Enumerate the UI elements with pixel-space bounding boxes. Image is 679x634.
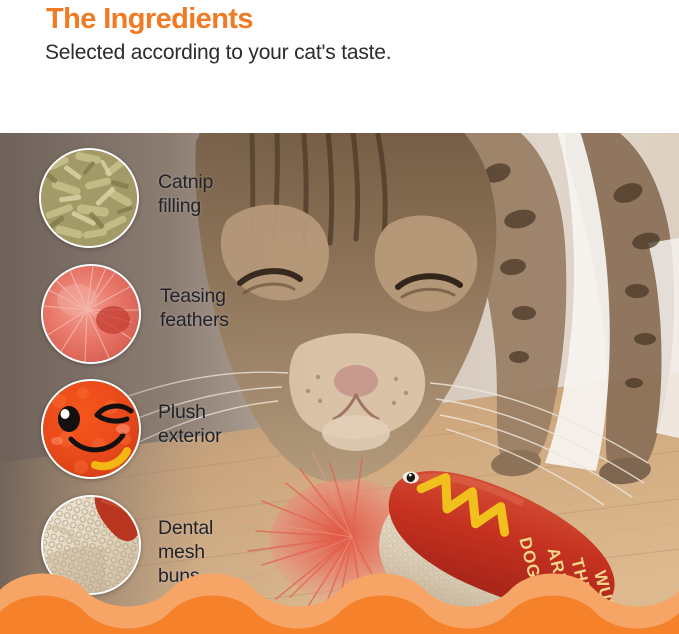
ingredient-label-feathers: Teasing feathers	[160, 284, 229, 332]
page-subtitle: Selected according to your cat's taste.	[45, 40, 391, 66]
catnip-filling-swatch	[39, 148, 139, 248]
ingredient-label-catnip: Catnip filling	[158, 170, 213, 218]
ingredients-infographic: The Ingredients Selected according to yo…	[0, 0, 679, 634]
plush-exterior-swatch	[41, 379, 141, 479]
header: The Ingredients Selected according to yo…	[0, 0, 679, 133]
wave-footer	[0, 564, 679, 634]
page-title: The Ingredients	[46, 2, 253, 36]
teasing-feathers-swatch	[41, 264, 141, 364]
ingredient-label-plush: Plush exterior	[158, 400, 221, 448]
